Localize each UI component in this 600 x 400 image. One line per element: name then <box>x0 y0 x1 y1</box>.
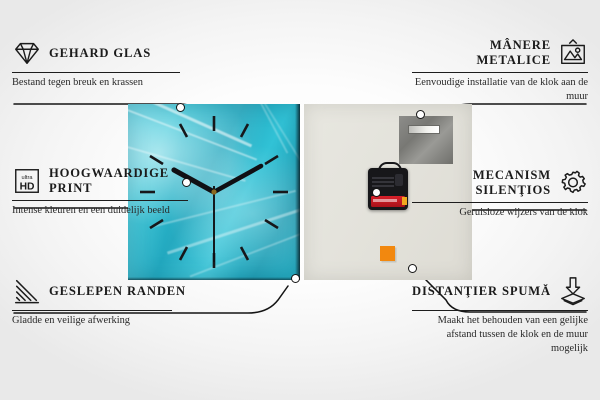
mechanism-detail <box>372 177 394 179</box>
feature-underline <box>12 72 180 73</box>
callout-dot-silent-mechanism <box>372 188 381 197</box>
hour-mark <box>241 124 248 137</box>
callout-dot-ground-edges <box>291 274 300 283</box>
feature-title: GEHARD GLAS <box>49 46 151 61</box>
feature-silent-mechanism: MECANISM SILENŢIOS Geruisloze wijzers va… <box>412 168 588 220</box>
feature-metal-handles: MÂNERE METALICE Eenvoudige installatie v… <box>412 38 588 104</box>
hour-mark <box>265 220 278 228</box>
callout-dot-tempered-glass <box>176 103 185 112</box>
hour-mark <box>150 156 163 164</box>
callout-dot-metal-handles <box>416 110 425 119</box>
metal-hanger-plate <box>399 116 453 164</box>
mechanism-knob <box>395 174 403 186</box>
infographic-canvas: GEHARD GLAS Bestand tegen breuk en krass… <box>0 0 600 400</box>
feature-underline <box>412 202 588 203</box>
feature-hd-print: ultra HD HOOGWAARDIGE PRINT Intense kleu… <box>12 166 188 218</box>
feature-underline <box>412 72 588 73</box>
foam-spacer-pad <box>380 246 395 261</box>
spacer-pad-icon <box>558 276 588 306</box>
feature-title: MECANISM SILENŢIOS <box>412 168 551 198</box>
ultra-hd-icon: ultra HD <box>12 166 42 196</box>
feature-underline <box>412 310 588 311</box>
feature-foam-spacer: DISTANŢIER SPUMĂ Maakt het behouden van … <box>412 276 588 356</box>
svg-text:ultra: ultra <box>22 175 34 181</box>
glass-edge <box>295 104 300 280</box>
feature-tempered-glass: GEHARD GLAS Bestand tegen breuk en krass… <box>12 38 188 90</box>
feature-ground-edges: GESLEPEN RANDEN Gladde en veilige afwerk… <box>12 276 188 328</box>
hour-mark <box>180 247 187 260</box>
feature-desc: Bestand tegen breuk en krassen <box>12 76 188 90</box>
feature-underline <box>12 200 188 201</box>
feature-desc: Geruisloze wijzers van de klok <box>412 206 588 220</box>
hour-mark <box>180 124 187 137</box>
hanger-slot <box>408 125 440 134</box>
callout-dot-foam-spacer <box>408 264 417 273</box>
picture-hanger-icon <box>558 38 588 68</box>
bevel-edge-icon <box>12 276 42 306</box>
feature-desc: Gladde en veilige afwerking <box>12 314 188 328</box>
feature-title: MÂNERE METALICE <box>412 38 551 68</box>
hour-mark <box>241 247 248 260</box>
feature-desc: Eenvoudige installatie van de klok aan d… <box>412 76 588 104</box>
battery-terminal <box>402 197 407 205</box>
feature-title: DISTANŢIER SPUMĂ <box>412 284 551 299</box>
mechanism-detail <box>372 181 394 183</box>
battery <box>371 196 405 207</box>
feature-underline <box>12 310 172 311</box>
hour-mark <box>265 156 278 164</box>
diamond-icon <box>12 38 42 68</box>
feature-title: HOOGWAARDIGE PRINT <box>49 166 188 196</box>
hand-cap <box>211 189 216 194</box>
mechanism-loop <box>378 162 402 174</box>
minute-hand <box>214 166 261 192</box>
feature-desc: Intense kleuren en een duidelijk beeld <box>12 204 188 218</box>
feature-desc: Maakt het behouden van een gelijke afsta… <box>412 314 588 355</box>
feature-title: GESLEPEN RANDEN <box>49 284 186 299</box>
svg-text:HD: HD <box>20 181 35 192</box>
hour-mark <box>150 220 163 228</box>
mechanism-detail <box>372 185 394 187</box>
battery-label-strip <box>373 199 397 202</box>
gear-icon <box>558 168 588 198</box>
